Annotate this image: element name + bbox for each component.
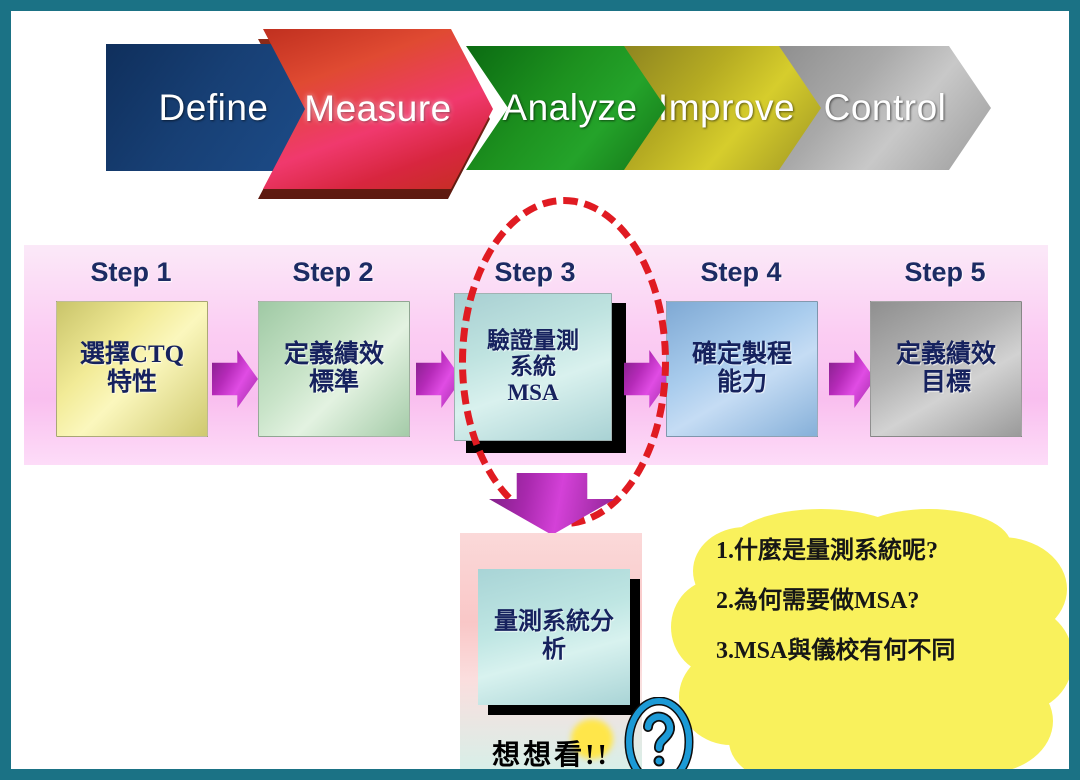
step-1-label: Step 1: [36, 257, 226, 288]
step-1-line-1: 選擇CTQ: [80, 341, 184, 369]
msa-box-line-1: 量測系統分: [494, 609, 614, 637]
cloud-question-3: 3.MSA與儀校有何不同: [716, 639, 1036, 663]
step-2-label: Step 2: [238, 257, 428, 288]
step-2-line-1: 定義績效: [284, 341, 384, 369]
dmaic-phase-analyze-label: Analyze: [502, 87, 637, 129]
dmaic-phase-measure-label: Measure: [304, 88, 451, 130]
step-column-4: Step 4 確定製程 能力: [646, 245, 836, 465]
question-mark-icon[interactable]: [624, 697, 694, 769]
msa-analysis-box[interactable]: 量測系統分 析: [478, 569, 630, 705]
step-5-line-1: 定義績效: [896, 341, 996, 369]
cloud-question-2: 2.為何需要做MSA?: [716, 589, 1036, 613]
step-4-box[interactable]: 確定製程 能力: [666, 301, 818, 437]
step-4-line-1: 確定製程: [692, 341, 792, 369]
slide-canvas: Define Measure Analyze Improve Control S…: [11, 11, 1069, 769]
step-column-5: Step 5 定義績效 目標: [850, 245, 1040, 465]
step-column-2: Step 2 定義績效 標準: [238, 245, 428, 465]
think-prompt-text: 想想看!!: [460, 733, 642, 769]
dmaic-phase-improve-label: Improve: [658, 87, 795, 129]
step-column-1: Step 1 選擇CTQ 特性: [36, 245, 226, 465]
step-4-label: Step 4: [646, 257, 836, 288]
step-5-line-2: 目標: [921, 369, 971, 397]
step-1-box[interactable]: 選擇CTQ 特性: [56, 301, 208, 437]
dmaic-phase-control-label: Control: [824, 87, 947, 129]
msa-box-line-2: 析: [542, 637, 566, 665]
step-2-box[interactable]: 定義績效 標準: [258, 301, 410, 437]
dmaic-phase-strip: Define Measure Analyze Improve Control: [11, 11, 1069, 201]
cloud-question-list: 1.什麼是量測系統呢? 2.為何需要做MSA? 3.MSA與儀校有何不同: [716, 539, 1036, 689]
step-1-line-2: 特性: [107, 369, 157, 397]
step-4-line-2: 能力: [717, 369, 767, 397]
step-2-line-2: 標準: [309, 369, 359, 397]
cloud-question-1: 1.什麼是量測系統呢?: [716, 539, 1036, 563]
dmaic-phase-define-label: Define: [159, 87, 269, 129]
step-5-box[interactable]: 定義績效 目標: [870, 301, 1022, 437]
step-5-label: Step 5: [850, 257, 1040, 288]
